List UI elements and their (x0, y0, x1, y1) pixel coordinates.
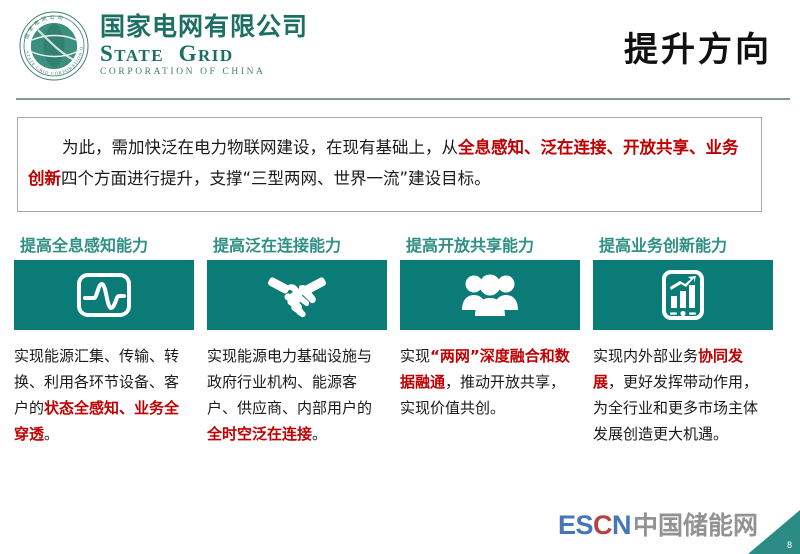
intro-paragraph: 为此，需加快泛在电力物联网建设，在现有基础上，从全息感知、泛在连接、开放共享、业… (28, 132, 753, 194)
column-title: 提高开放共享能力 (406, 232, 583, 256)
column-body: 实现内外部业务协同发展，更好发挥带动作用，为全行业和更多市场主体发展创造更大机遇… (593, 343, 769, 447)
icon-tile (400, 260, 580, 330)
body-segment-1: 实现能源电力基础设施与政府行业机构、能源客户、供应商、内部用户的 (207, 347, 372, 417)
body-segment-1: 实现内外部业务 (593, 347, 698, 365)
column-title: 提高泛在连接能力 (213, 232, 390, 256)
body-segment-3: ，更好发挥带动作用，为全行业和更多市场主体发展创造更大机遇。 (593, 373, 758, 443)
page-title: 提升方向 (624, 22, 772, 71)
column-title: 提高全息感知能力 (20, 232, 197, 256)
header-divider (16, 98, 790, 100)
capability-column-ubiquitous-connection: 提高泛在连接能力 (207, 232, 400, 447)
user-group-icon (460, 272, 520, 318)
capability-columns: 提高全息感知能力 实现能源汇集、传输、转换、利用各环节设备、客户的状态全感知、业… (14, 232, 786, 447)
waveform-monitor-icon (76, 272, 132, 318)
watermark-chinese: 中国储能网 (633, 506, 758, 542)
brand-name-cn: 国家电网有限公司 (100, 14, 308, 39)
icon-tile (14, 260, 194, 330)
watermark-latin: ESCN (558, 510, 631, 541)
intro-segment-3: 四个方面进行提升，支撑“三型两网、世界一流”建设目标。 (61, 169, 491, 188)
column-body: 实现“两网”深度融合和数据融通，推动开放共享，实现价值共创。 (400, 343, 576, 421)
brand-subtitle-en: CORPORATION OF CHINA (100, 68, 308, 78)
capability-column-open-sharing: 提高开放共享能力 实现“两网”深度融合和数据融通，推动开放共享，实现价值共创。 (400, 232, 593, 447)
icon-tile (207, 260, 387, 330)
body-segment-1: 实现 (400, 347, 430, 365)
body-segment-3: 。 (44, 425, 59, 443)
brand-text-block: 国家电网有限公司 STATE GRID CORPORATION OF CHINA (100, 14, 308, 78)
escn-watermark: ESCN 中国储能网 (558, 506, 758, 542)
slide-header: 国 家 电 网 公 司 STATE GRID CORPORATION OF CH… (0, 0, 800, 92)
page-number: 8 (787, 540, 792, 550)
intro-callout-box: 为此，需加快泛在电力物联网建设，在现有基础上，从全息感知、泛在连接、开放共享、业… (17, 117, 762, 212)
brand-lockup: 国 家 电 网 公 司 STATE GRID CORPORATION OF CH… (18, 10, 308, 82)
handshake-icon (266, 272, 328, 318)
body-emphasis: 全时空泛在连接 (207, 425, 312, 443)
corner-accent-triangle (748, 510, 800, 554)
intro-segment-1: 为此，需加快泛在电力物联网建设，在现有基础上，从 (62, 138, 458, 157)
body-segment-3: 。 (312, 425, 327, 443)
column-title: 提高业务创新能力 (599, 232, 776, 256)
state-grid-globe-emblem: 国 家 电 网 公 司 STATE GRID CORPORATION OF CH… (18, 10, 90, 82)
mobile-growth-chart-icon (661, 270, 705, 320)
capability-column-business-innovation: 提高业务创新能力 实现内外部业务协同发展，更好 (593, 232, 786, 447)
column-body: 实现能源电力基础设施与政府行业机构、能源客户、供应商、内部用户的全时空泛在连接。 (207, 343, 383, 447)
column-body: 实现能源汇集、传输、转换、利用各环节设备、客户的状态全感知、业务全穿透。 (14, 343, 190, 447)
icon-tile (593, 260, 773, 330)
brand-name-en: STATE GRID (100, 42, 308, 65)
capability-column-holographic-sensing: 提高全息感知能力 实现能源汇集、传输、转换、利用各环节设备、客户的状态全感知、业… (14, 232, 207, 447)
